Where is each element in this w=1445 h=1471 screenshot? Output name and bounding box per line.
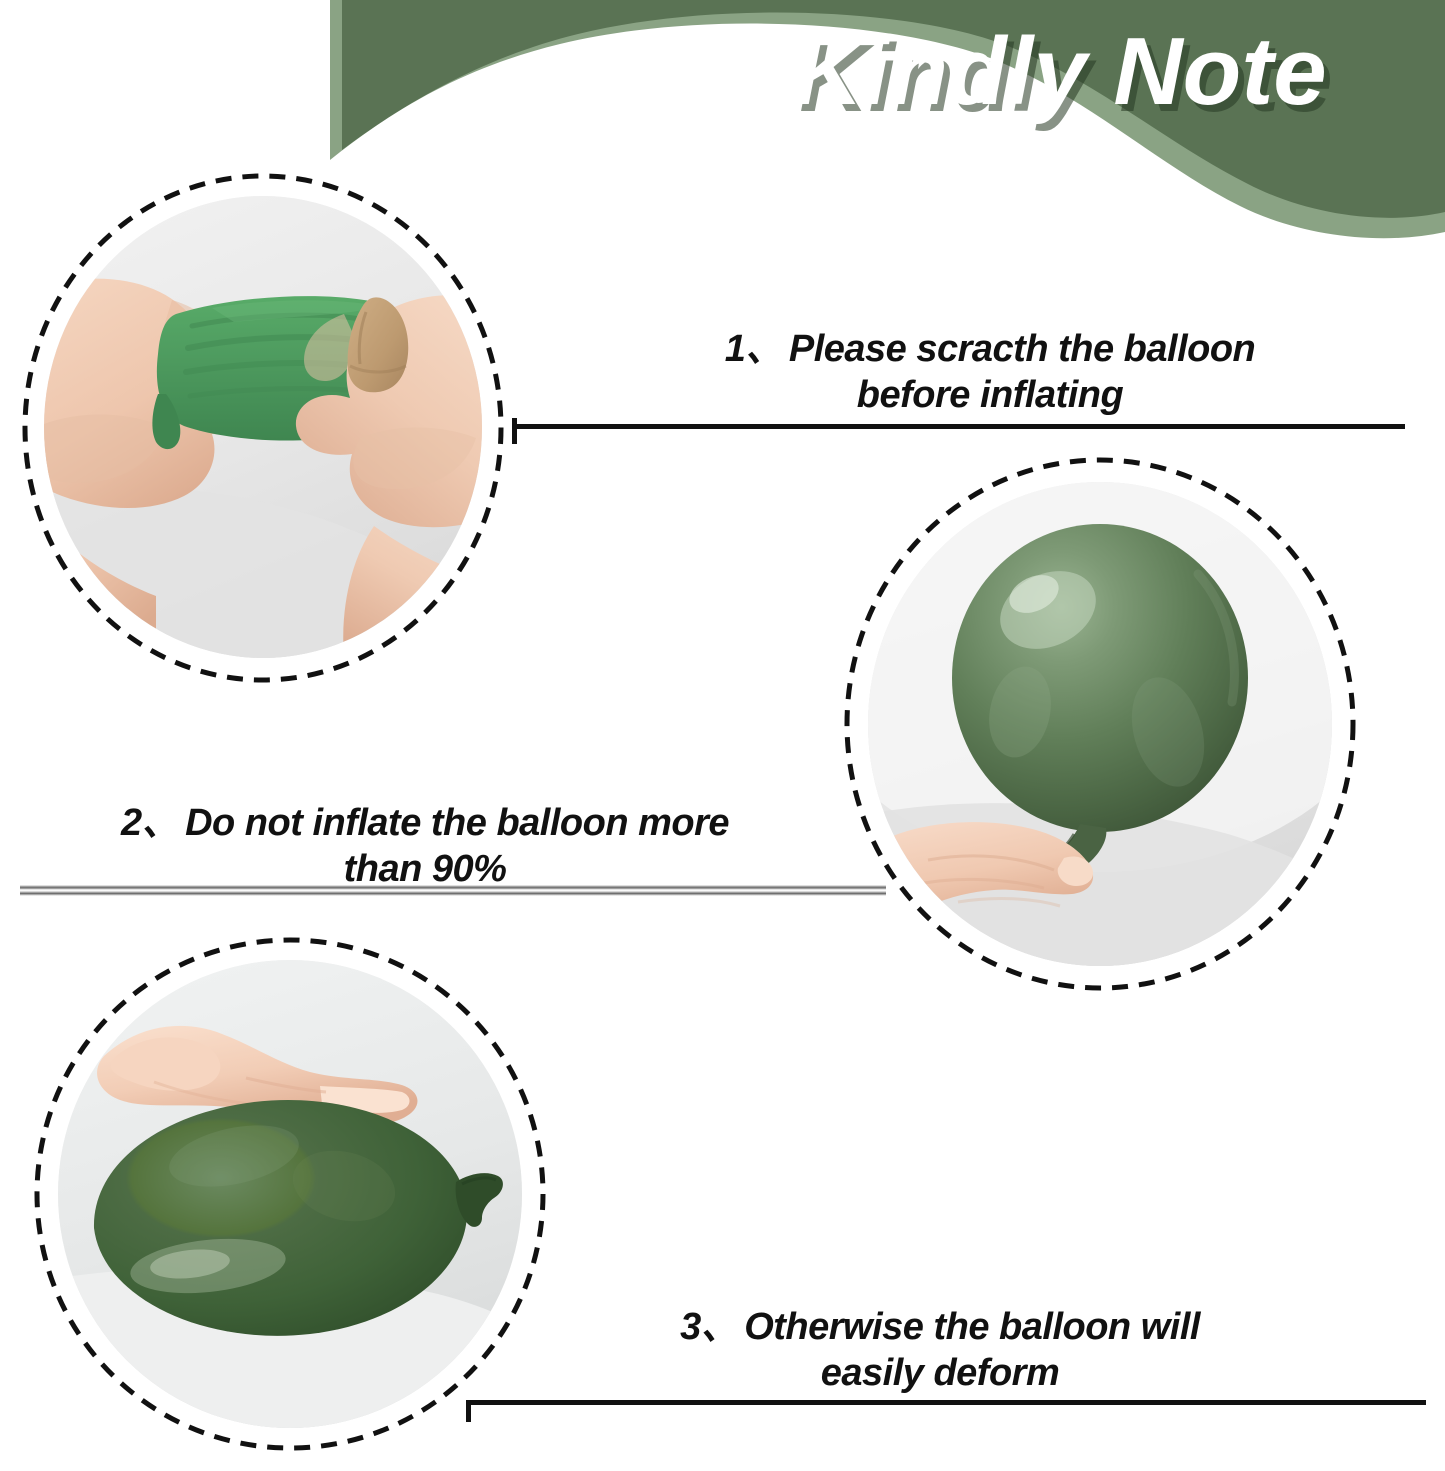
step-2-rule <box>20 885 886 896</box>
step-2-line-1: Do not inflate the balloon more <box>185 802 729 844</box>
step-3-number: 3、 <box>680 1306 738 1348</box>
infographic-page: Kindly Note <box>0 0 1445 1471</box>
photo-deformed-balloon-image <box>58 960 522 1428</box>
step-3-text: 3、Otherwise the balloon will easily defo… <box>610 1304 1270 1397</box>
step-1-text: 1、Please scracth the balloon before infl… <box>660 326 1320 419</box>
photo-inflated-balloon-image <box>868 482 1332 966</box>
step-1-rule-tick <box>512 418 517 444</box>
step-2-text: 2、Do not inflate the balloon more than 9… <box>60 800 790 893</box>
step-1-rule <box>512 424 1405 429</box>
photo-stretch-balloon <box>18 168 508 688</box>
photo-inflated-balloon <box>840 452 1360 996</box>
photo-deformed-balloon <box>30 932 550 1456</box>
photo-stretch-balloon-image <box>44 196 482 658</box>
step-1-number: 1、 <box>725 328 783 370</box>
step-3-line-2: easily deform <box>610 1350 1270 1396</box>
step-1-line-1: Please scracth the balloon <box>789 328 1255 370</box>
step-3-rule <box>466 1400 1426 1405</box>
step-2-number: 2、 <box>121 802 179 844</box>
step-1-line-2: before inflating <box>660 372 1320 418</box>
page-title: Kindly Note <box>700 22 1420 123</box>
step-3-line-1: Otherwise the balloon will <box>744 1306 1200 1348</box>
